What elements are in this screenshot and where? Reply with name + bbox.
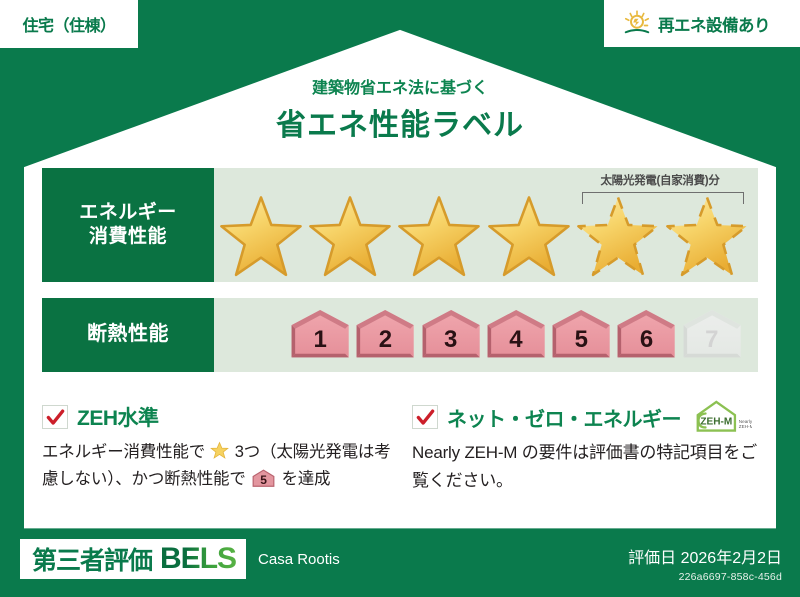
energy-label-line1: エネルギー	[79, 201, 177, 225]
insulation-grade-value: 5	[549, 305, 613, 365]
insulation-grade-6: 6	[614, 305, 678, 365]
svg-text:Nearly: Nearly	[739, 419, 752, 424]
zeh-standard-description: エネルギー消費性能で 3つ（太陽光発電は考慮しない）、かつ断熱性能で 5 を達成	[42, 439, 404, 492]
insulation-grade-1: 1	[288, 305, 352, 365]
zeh-standard-header: ZEH水準	[42, 402, 404, 432]
evaluation-date: 評価日 2026年2月2日	[628, 544, 782, 568]
third-party-eval-label: 第三者評価	[32, 541, 152, 577]
zeh-desc-part1: エネルギー消費性能で	[42, 443, 205, 461]
insulation-grade-value: 3	[419, 305, 483, 365]
renewable-equipment-badge: 再エネ設備あり	[604, 0, 800, 47]
star-rating-group	[216, 192, 752, 278]
insulation-grade-value: 7	[680, 305, 744, 365]
insulation-grade-2: 2	[353, 305, 417, 365]
zeh-desc-part3: を達成	[281, 470, 330, 488]
zeh-standard-title: ZEH水準	[77, 402, 159, 432]
insulation-performance-label: 断熱性能	[42, 298, 214, 372]
insulation-rating-area: 1234567	[214, 298, 758, 372]
renewable-badge-label: 再エネ設備あり	[658, 12, 770, 36]
insulation-grade-4: 4	[484, 305, 548, 365]
energy-rating-area: 太陽光発電(自家消費)分	[214, 168, 758, 282]
bels-plate: 第三者評価 BELS	[20, 539, 246, 579]
check-icon	[46, 408, 65, 427]
evaluation-id: 226a6697-858c-456d	[628, 571, 782, 583]
insulation-grade-3: 3	[419, 305, 483, 365]
evaluation-info: 評価日 2026年2月2日 226a6697-858c-456d	[628, 544, 782, 583]
insulation-grade-value: 1	[288, 305, 352, 365]
star-filled	[218, 194, 304, 276]
insulation-grade-5: 5	[549, 305, 613, 365]
zeh-standard-block: ZEH水準 エネルギー消費性能で 3つ（太陽光発電は考慮しない）、かつ断熱性能で…	[42, 402, 404, 492]
insulation-grade-value: 2	[353, 305, 417, 365]
insulation-grade-value: 6	[614, 305, 678, 365]
insulation-grade-7: 7	[680, 305, 744, 365]
renewable-sun-icon	[622, 9, 652, 39]
net-zero-energy-header: ネット・ゼロ・エネルギー ZEH-M Nearly ZEH-M	[412, 402, 762, 432]
solar-generation-note: 太陽光発電(自家消費)分	[568, 172, 752, 188]
star-filled	[486, 194, 572, 276]
label-title: 省エネ性能ラベル	[0, 100, 800, 144]
insulation-performance-row: 断熱性能 1234567	[42, 298, 758, 372]
net-zero-energy-checkbox	[412, 405, 438, 429]
insulation-label-text: 断熱性能	[87, 322, 169, 348]
net-zero-energy-title: ネット・ゼロ・エネルギー	[447, 403, 681, 432]
insulation-grade-group: 1234567	[228, 304, 744, 366]
zeh-m-house-logo: ZEH-M Nearly ZEH-M	[690, 398, 752, 436]
property-name: Casa Rootis	[258, 551, 340, 568]
label-subtitle: 建築物省エネ法に基づく	[0, 74, 800, 98]
bels-footer: 第三者評価 BELS Casa Rootis	[20, 539, 340, 579]
insulation-grade-value: 4	[484, 305, 548, 365]
net-zero-energy-block: ネット・ゼロ・エネルギー ZEH-M Nearly ZEH-M Nearly Z…	[412, 402, 762, 494]
energy-performance-label: 住宅（住棟） 再エネ設備あり 建築物省エネ法に基づく 省エネ性能ラベル	[0, 0, 800, 597]
star-solar	[575, 194, 661, 276]
bels-logo-text: BELS	[160, 542, 236, 576]
dwelling-type-tag: 住宅（住棟）	[0, 0, 138, 48]
small-gold-star-icon	[210, 441, 229, 460]
star-filled	[396, 194, 482, 276]
svg-text:ZEH-M: ZEH-M	[700, 416, 732, 427]
net-zero-energy-description: Nearly ZEH-M の要件は評価書の特記項目をご覧ください。	[412, 439, 762, 494]
zeh-standard-checkbox	[42, 405, 68, 429]
energy-consumption-label: エネルギー 消費性能	[42, 168, 214, 282]
star-solar	[664, 194, 750, 276]
star-filled	[307, 194, 393, 276]
energy-consumption-row: エネルギー 消費性能 太陽光発電(自家消費)分	[42, 168, 758, 282]
energy-label-line2: 消費性能	[89, 225, 167, 249]
svg-text:ZEH-M: ZEH-M	[739, 424, 752, 429]
check-icon	[416, 408, 435, 427]
dwelling-type-label: 住宅（住棟）	[22, 12, 115, 36]
inline-grade-value: 5	[252, 469, 275, 488]
insulation-grade-5-inline-icon: 5	[252, 469, 275, 488]
